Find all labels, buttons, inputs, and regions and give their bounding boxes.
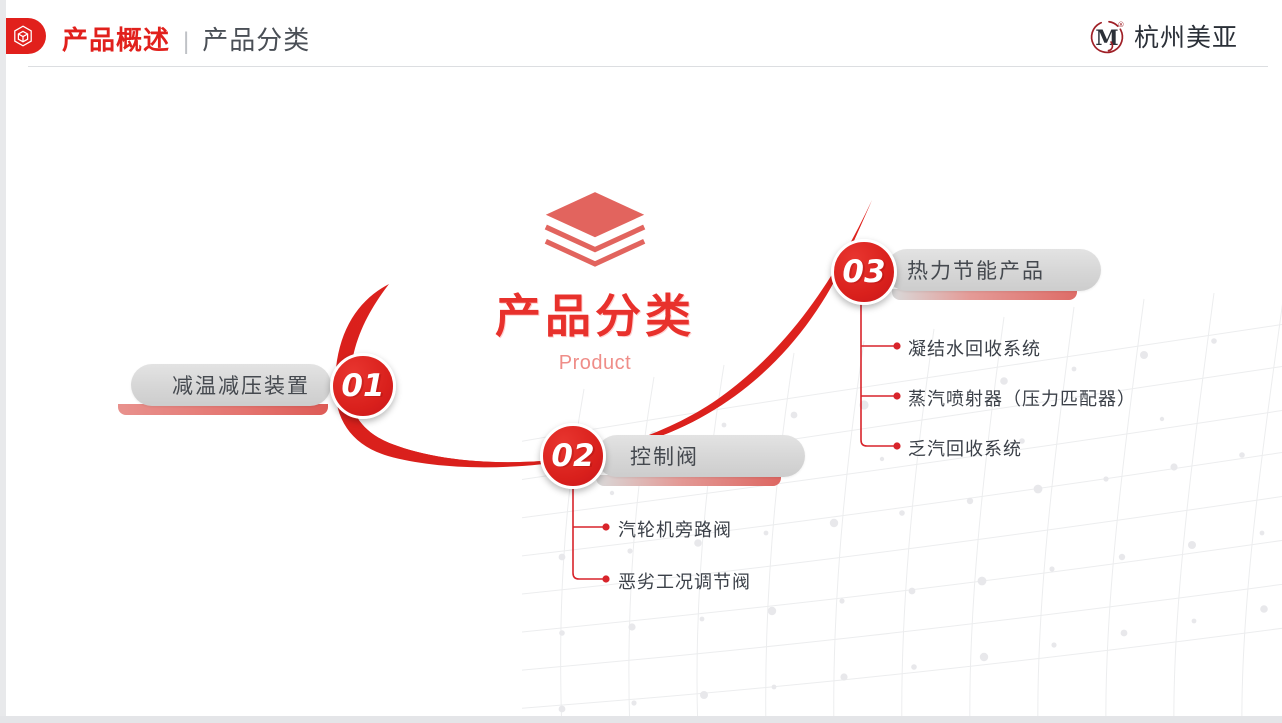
page-frame-left [0,0,6,723]
hub-subtitle: Product [465,352,725,375]
pill-01[interactable]: 减温减压装置 [131,364,331,406]
node-03-label: 热力节能产品 [907,255,1045,285]
page-title: 产品概述 [62,20,170,57]
node-01-label: 减温减压装置 [172,370,310,400]
page-frame-bottom [0,716,1282,723]
center-hub: 产品分类 Product [465,186,725,375]
node-02-number: 02 [551,438,594,474]
node-03-branches: 凝结水回收系统 蒸汽喷射器（压力匹配器） 乏汽回收系统 [858,300,1138,460]
header-title-group: 产品概述 | 产品分类 [62,20,310,57]
node-03-circle[interactable]: 03 [831,239,897,305]
node-03-child-2: 乏汽回收系统 [908,435,1022,461]
hub-title: 产品分类 [465,280,725,346]
header-divider [28,66,1268,67]
node-03-child-1: 蒸汽喷射器（压力匹配器） [908,385,1136,411]
slide-canvas: 产品概述 | 产品分类 M ® 杭州美亚 [0,0,1282,723]
brand-logo: M ® 杭州美亚 [1088,16,1238,56]
node-01-circle[interactable]: 01 [330,353,396,419]
node-02-label: 控制阀 [630,441,699,471]
svg-text:®: ® [1117,21,1124,29]
pill-02[interactable]: 控制阀 [596,435,805,477]
brand-name: 杭州美亚 [1134,18,1238,54]
node-02-circle[interactable]: 02 [540,423,606,489]
page-subtitle: 产品分类 [202,20,310,57]
title-separator: | [183,28,189,56]
pill-03[interactable]: 热力节能产品 [886,249,1101,291]
node-03-number: 03 [842,254,885,290]
layers-stack-icon [465,186,725,268]
circle-m-logo-icon: M ® [1088,16,1128,56]
hexagon-cube-icon [0,18,46,54]
node-02-child-0: 汽轮机旁路阀 [618,516,732,542]
node-03-child-0: 凝结水回收系统 [908,335,1041,361]
svg-text:M: M [1095,25,1118,50]
slide-header: 产品概述 | 产品分类 M ® 杭州美亚 [0,0,1282,70]
node-02-child-1: 恶劣工况调节阀 [618,568,751,594]
node-01-number: 01 [341,368,384,404]
node-02-branches: 汽轮机旁路阀 恶劣工况调节阀 [570,487,810,597]
